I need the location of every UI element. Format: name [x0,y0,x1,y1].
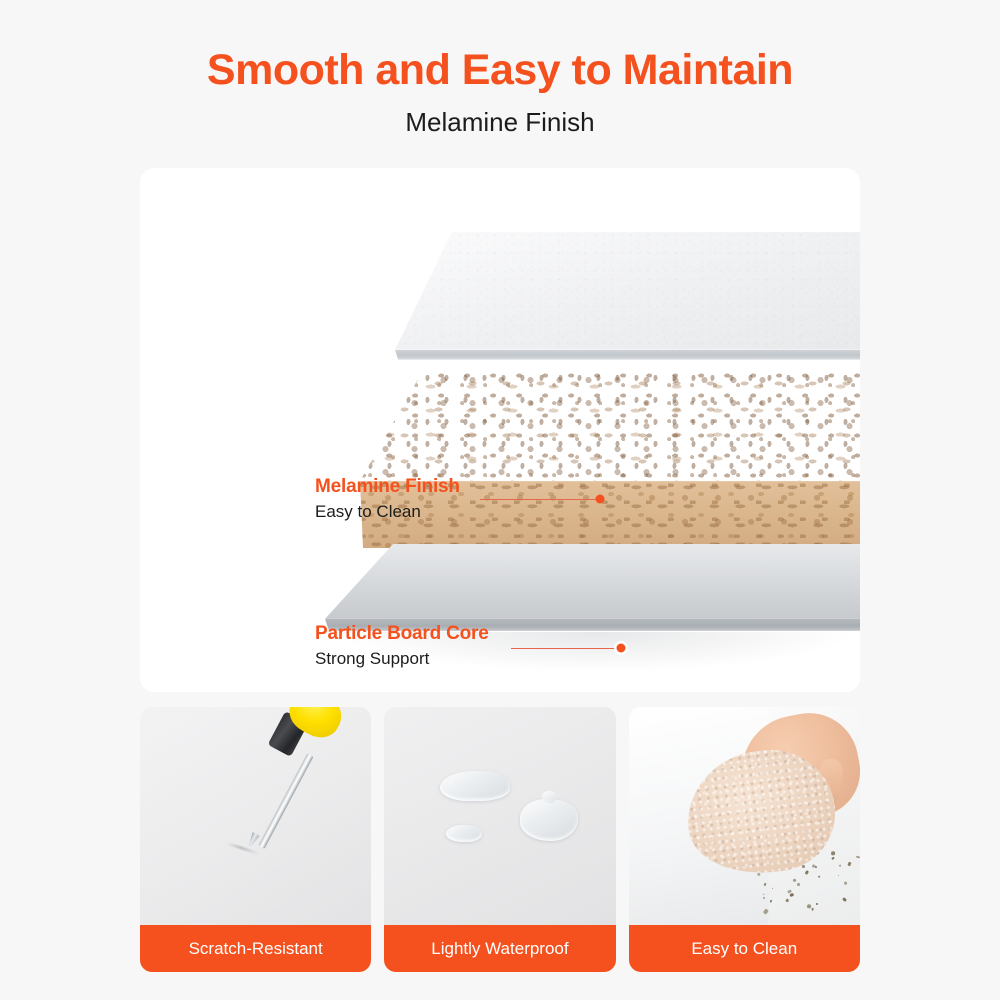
feature-caption-lightly-waterproof: Lightly Waterproof [384,925,615,972]
crumb [818,876,821,878]
crumb [793,878,797,882]
water-droplet [520,799,578,841]
crumb [771,888,773,890]
crumb [763,894,764,896]
hero-card: Melamine Finish Easy to Clean Particle B… [140,168,860,692]
crumb [769,899,773,903]
crumb [832,856,836,860]
melamine-top-edge [395,350,860,360]
crumb [802,865,805,868]
crumb [814,866,816,868]
feature-card-lightly-waterproof: Lightly Waterproof [384,707,615,972]
photo-screwdriver-scratch-test [140,707,371,925]
core-top-face [360,372,860,481]
header: Smooth and Easy to Maintain Melamine Fin… [0,0,1000,138]
feature-card-easy-to-clean: Easy to Clean [629,707,860,972]
callout-particle-board-core: Particle Board Core Strong Support [315,623,489,669]
crumb [763,897,765,899]
photo-hand-wiping-surface [629,707,860,925]
crumb [763,883,767,887]
melamine-bottom-face [325,544,860,619]
crumb [816,903,818,905]
crumb [796,882,800,886]
crumb [786,899,789,903]
leader-line-core [511,648,619,649]
crumb [840,864,842,867]
callout-melamine-finish: Melamine Finish Easy to Clean [315,476,460,522]
water-droplet [440,771,510,801]
callout-core-subtitle: Strong Support [315,649,489,669]
leader-line-melamine [480,499,598,500]
crumb [844,881,847,885]
feature-card-list: Scratch-Resistant Lightly Waterproof [140,707,860,972]
crumb [855,855,859,858]
screwdriver-shaft [258,754,313,849]
page-title: Smooth and Easy to Maintain [0,46,1000,95]
water-droplet [446,825,482,842]
callout-melamine-title: Melamine Finish [315,476,460,498]
photo-water-droplets [384,707,615,925]
exploded-board-diagram: Melamine Finish Easy to Clean Particle B… [140,168,860,692]
callout-melamine-subtitle: Easy to Clean [315,502,460,522]
feature-caption-easy-to-clean: Easy to Clean [629,925,860,972]
core-grain-texture [360,372,860,481]
page-subtitle: Melamine Finish [0,107,1000,138]
crumb [838,874,840,876]
leader-dot-core [617,644,626,653]
product-feature-infographic: Smooth and Easy to Maintain Melamine Fin… [0,0,1000,1000]
crumb [842,897,847,902]
crumb [790,893,795,898]
feature-caption-scratch-resistant: Scratch-Resistant [140,925,371,972]
feature-card-scratch-resistant: Scratch-Resistant [140,707,371,972]
callout-core-title: Particle Board Core [315,623,489,645]
crumb [811,908,814,911]
layer-melamine-top [395,232,860,372]
scratch-mark [226,842,259,855]
crumb [830,851,834,855]
crumb [847,862,851,867]
leader-dot-melamine [596,495,605,504]
crumb [806,904,811,909]
screwdriver-tip [246,832,260,848]
crumb [757,873,760,876]
